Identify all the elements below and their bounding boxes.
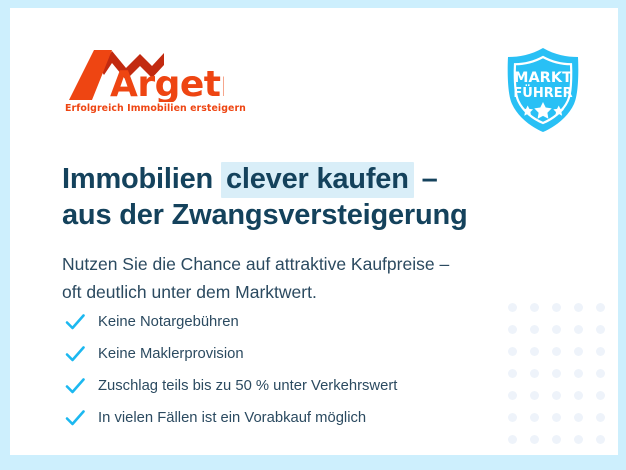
dot <box>574 325 583 334</box>
subheadline-line1: Nutzen Sie die Chance auf attraktive Kau… <box>62 250 562 278</box>
checklist-item: Keine Notargebühren <box>64 307 534 336</box>
checklist-item: In vielen Fällen ist ein Vorabkauf mögli… <box>64 403 534 432</box>
checklist-item-label: Keine Notargebühren <box>98 312 239 332</box>
dot <box>552 369 561 378</box>
headline-prefix: Immobilien <box>62 163 221 195</box>
dot <box>552 391 561 400</box>
ad-frame: Argetra Erfolgreich Immobilien ersteiger… <box>0 0 626 470</box>
dot <box>574 369 583 378</box>
dot <box>574 303 583 312</box>
check-icon <box>64 375 86 397</box>
dot <box>596 435 605 444</box>
svg-text:Argetra: Argetra <box>110 64 224 102</box>
dot <box>574 435 583 444</box>
marktfuehrer-badge: MARKT FÜHRER <box>497 44 589 136</box>
headline-line2: aus der Zwangsversteigerung <box>62 197 532 233</box>
checklist-item-label: Keine Maklerprovision <box>98 344 244 364</box>
dot <box>508 435 517 444</box>
subheadline-line2: oft deutlich unter dem Marktwert. <box>62 278 562 306</box>
dot <box>552 435 561 444</box>
dot <box>596 303 605 312</box>
dot <box>552 347 561 356</box>
dot <box>596 369 605 378</box>
check-icon <box>64 343 86 365</box>
headline: Immobilien clever kaufen – aus der Zwang… <box>62 161 532 233</box>
badge-line1-text: MARKT <box>514 70 572 86</box>
check-icon <box>64 407 86 429</box>
dot <box>596 325 605 334</box>
logo-tagline: Erfolgreich Immobilien ersteigern <box>65 103 246 114</box>
dot <box>574 413 583 422</box>
checklist-item-label: Zuschlag teils bis zu 50 % unter Verkehr… <box>98 376 397 396</box>
check-icon <box>64 311 86 333</box>
dot <box>530 435 539 444</box>
checklist-item: Keine Maklerprovision <box>64 339 534 368</box>
dot <box>596 391 605 400</box>
dot <box>552 413 561 422</box>
badge-line2-text: FÜHRER <box>513 85 572 101</box>
argetra-logo[interactable]: Argetra Erfolgreich Immobilien ersteiger… <box>64 48 324 120</box>
shield-badge-icon: MARKT FÜHRER <box>497 44 589 136</box>
dot <box>574 391 583 400</box>
checklist-item: Zuschlag teils bis zu 50 % unter Verkehr… <box>64 371 534 400</box>
dot <box>574 347 583 356</box>
headline-highlight: clever kaufen <box>221 162 414 198</box>
ad-card: Argetra Erfolgreich Immobilien ersteiger… <box>10 8 618 455</box>
dot <box>596 413 605 422</box>
subheadline: Nutzen Sie die Chance auf attraktive Kau… <box>62 250 562 306</box>
checklist-item-label: In vielen Fällen ist ein Vorabkauf mögli… <box>98 408 366 428</box>
argetra-roof-a-icon: Argetra <box>64 48 224 102</box>
benefits-checklist: Keine NotargebührenKeine Maklerprovision… <box>64 307 534 435</box>
dot <box>552 325 561 334</box>
headline-suffix: – <box>414 163 438 195</box>
dot <box>596 347 605 356</box>
